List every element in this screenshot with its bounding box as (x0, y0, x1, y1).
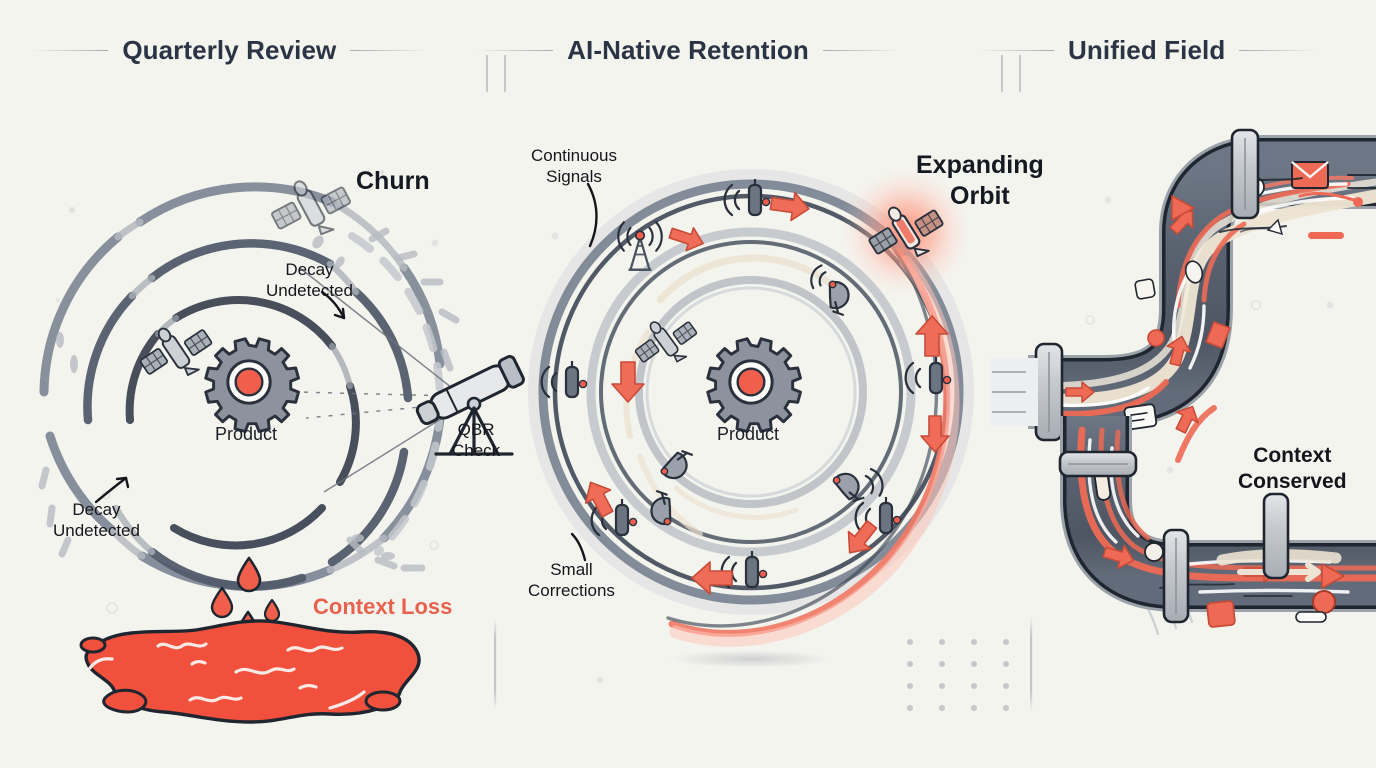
label-small-corrections: Small Corrections (528, 560, 615, 601)
pipe-flange-icon (1036, 344, 1062, 440)
pipe-flange-icon (1060, 452, 1136, 476)
pipe-open-end (990, 358, 1038, 426)
diagram-canvas: Quarterly Review AI-Native Retention Uni… (0, 0, 1376, 768)
pipe-upper (990, 130, 1376, 460)
pipe-right-tail (1264, 494, 1288, 578)
header-brackets (0, 0, 1376, 100)
signal-node-icon (542, 361, 587, 397)
label-qbr-check: QBR Check (452, 420, 500, 461)
dot-grid-decoration (907, 639, 1009, 711)
puddle-icon (81, 621, 419, 722)
gear-icon (206, 339, 299, 432)
label-context-conserved: Context Conserved (1238, 443, 1347, 494)
panel-unified-field (990, 130, 1376, 634)
label-expanding-orbit: Expanding Orbit (916, 150, 1044, 211)
gear-icon (708, 339, 801, 432)
pipe-flange-icon (1232, 130, 1258, 218)
pipe-flange-icon (1264, 494, 1288, 578)
ground-shadow (667, 650, 835, 668)
label-product-middle: Product (717, 424, 779, 446)
label-churn: Churn (356, 166, 430, 197)
label-decay-undetected-bottom: Decay Undetected (53, 500, 140, 541)
label-decay-undetected-top: Decay Undetected (266, 260, 353, 301)
label-product-left: Product (215, 424, 277, 446)
illustration-svg (0, 0, 1376, 768)
decay-arrow-bottom (96, 478, 128, 502)
label-continuous-signals: Continuous Signals (531, 146, 617, 187)
pipe-flange-icon (1164, 530, 1188, 622)
envelope-icon (1292, 162, 1328, 188)
label-context-loss: Context Loss (313, 594, 452, 621)
